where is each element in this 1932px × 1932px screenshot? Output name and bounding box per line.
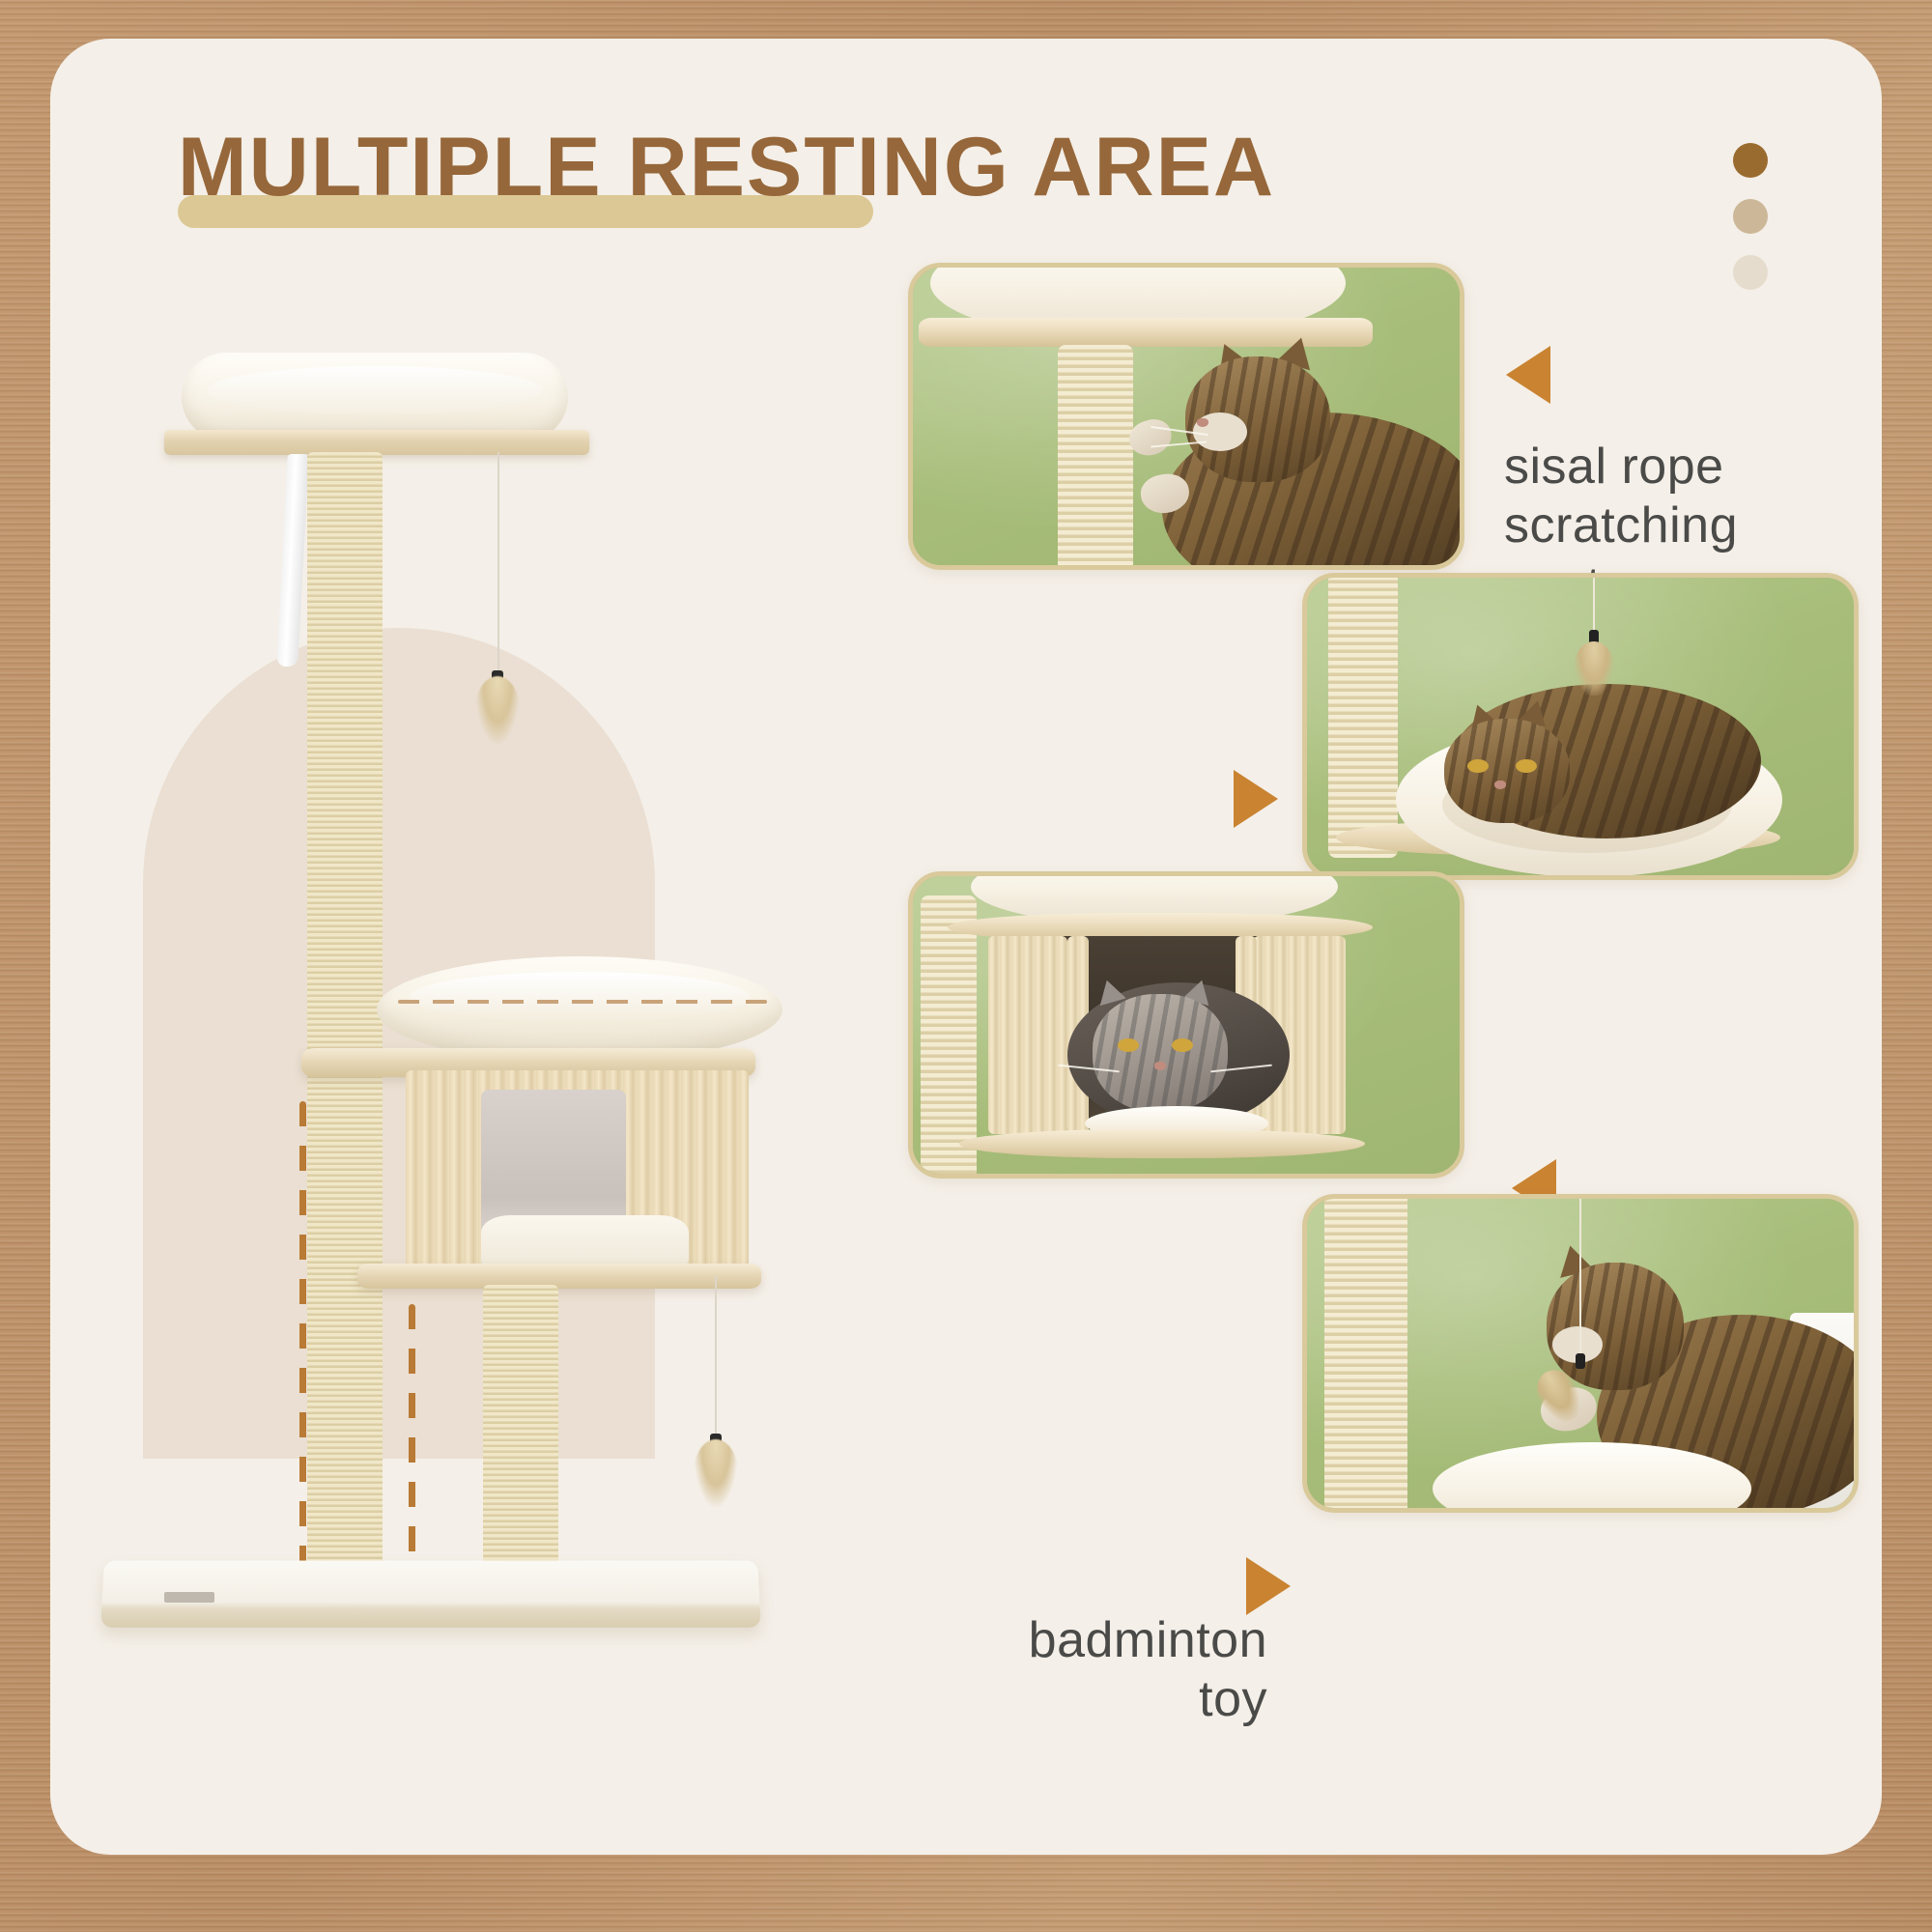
infographic-card: MULTIPLE RESTING AREA [50, 39, 1882, 1855]
scene-cat-eye-left-icon [1467, 759, 1489, 773]
scene-condo-slat-left [988, 936, 1067, 1134]
product-illustration [58, 280, 889, 1826]
feather-toy-upper-icon [475, 676, 520, 744]
scene-cat-nose-icon [1494, 781, 1506, 789]
dot-dark-icon [1733, 143, 1768, 178]
scene-condo-bottom-platform [959, 1129, 1365, 1158]
scene-sisal-post [1328, 573, 1398, 858]
feature-photo-sisal-rope-scratching-posts [908, 263, 1464, 570]
middle-perch-cushion [377, 956, 782, 1063]
arrow-left-icon-sisal [1506, 346, 1550, 404]
photo-scene [913, 876, 1460, 1174]
sisal-post-main [307, 452, 383, 1577]
toy-string-upper [497, 452, 499, 684]
measurement-dash-right [409, 1304, 415, 1570]
brand-logo-plate [164, 1592, 214, 1603]
photo-scene [1307, 578, 1854, 875]
top-perch-cushion [182, 353, 568, 441]
scene-toy-knot-icon [1576, 1353, 1585, 1369]
scene-feather-toy-icon [1574, 641, 1614, 696]
feather-toy-lower-icon [694, 1439, 738, 1507]
scene-sisal-post [921, 895, 977, 1179]
scene-toy-string [1593, 578, 1595, 634]
scene-toy-string [1579, 1199, 1581, 1357]
measurement-dash-left [299, 1101, 306, 1565]
ribbon-strap [276, 454, 309, 667]
sisal-post-secondary [483, 1285, 558, 1579]
scene-cat-eye-left-icon [1118, 1038, 1139, 1052]
arrow-right-icon-badminton [1246, 1557, 1291, 1615]
scene-cat-eye-right-icon [1516, 759, 1537, 773]
photo-scene [913, 268, 1460, 565]
arrow-right-icon-perches [1234, 770, 1278, 828]
feature-label-badminton-toy: badmintontoy [900, 1611, 1267, 1730]
page-title: MULTIPLE RESTING AREA [178, 126, 1275, 209]
toy-string-lower [715, 1275, 717, 1449]
scene-cat-head [1444, 719, 1570, 823]
feature-photo-soft-perches [1302, 573, 1859, 880]
scene-cat-nose-icon [1154, 1062, 1166, 1070]
decorative-dots [1733, 143, 1768, 311]
scene-sisal-post [1058, 345, 1133, 570]
dot-medium-icon [1733, 199, 1768, 234]
scene-cat-eye-right-icon [1172, 1038, 1193, 1052]
dot-light-icon [1733, 255, 1768, 290]
scene-cat-head [1093, 994, 1228, 1112]
page-title-wrap: MULTIPLE RESTING AREA [178, 126, 1275, 209]
cushion-stitch-line [398, 1000, 767, 1004]
scene-cat-head [1547, 1263, 1684, 1390]
feature-photo-roomy-condo [908, 871, 1464, 1179]
scene-sisal-post [1324, 1194, 1407, 1513]
feature-photo-badminton-toy [1302, 1194, 1859, 1513]
lower-platform [357, 1264, 761, 1289]
scene-cat-nose-icon [1197, 418, 1208, 427]
photo-scene [1307, 1199, 1854, 1508]
